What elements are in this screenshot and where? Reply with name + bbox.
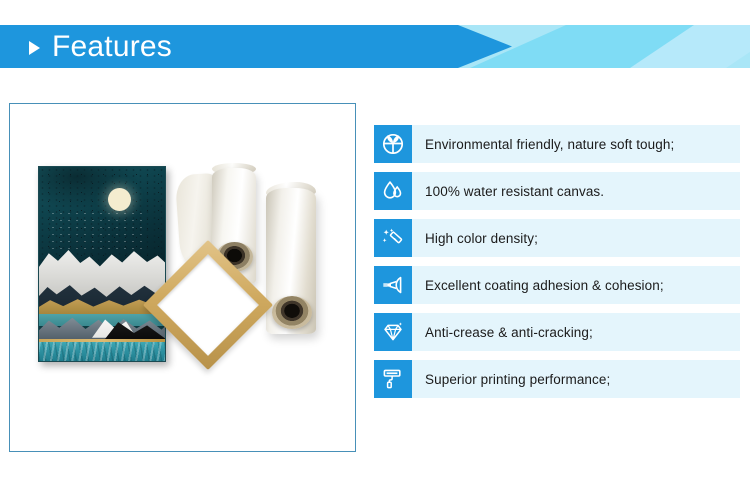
banner-label-group: Features xyxy=(29,25,172,68)
spray-nozzle-icon xyxy=(374,266,412,304)
feature-label: Environmental friendly, nature soft toug… xyxy=(412,125,740,163)
product-photo xyxy=(10,104,355,451)
feature-row: Excellent coating adhesion & cohesion; xyxy=(374,266,740,304)
feature-row: Superior printing performance; xyxy=(374,360,740,398)
canvas-painting xyxy=(38,166,166,362)
feature-row: Anti-crease & anti-cracking; xyxy=(374,313,740,351)
product-image-panel xyxy=(9,103,356,452)
feature-row: Environmental friendly, nature soft toug… xyxy=(374,125,740,163)
canvas-roll-right-core xyxy=(272,296,312,329)
feature-label: High color density; xyxy=(412,219,740,257)
feature-label: Excellent coating adhesion & cohesion; xyxy=(412,266,740,304)
painting-stars xyxy=(49,210,144,253)
feature-label: 100% water resistant canvas. xyxy=(412,172,740,210)
feature-row: 100% water resistant canvas. xyxy=(374,172,740,210)
eco-leaf-icon xyxy=(374,125,412,163)
paint-roller-icon xyxy=(374,360,412,398)
features-page: Features xyxy=(0,0,750,491)
features-list: Environmental friendly, nature soft toug… xyxy=(374,125,740,407)
features-banner: Features xyxy=(0,25,750,68)
water-drop-icon xyxy=(374,172,412,210)
feature-label: Superior printing performance; xyxy=(412,360,740,398)
magic-wand-icon xyxy=(374,219,412,257)
feature-label: Anti-crease & anti-cracking; xyxy=(412,313,740,351)
feature-row: High color density; xyxy=(374,219,740,257)
triangle-right-icon xyxy=(29,41,40,55)
painting-water-waves xyxy=(39,342,165,361)
page-title: Features xyxy=(52,25,172,68)
diamond-icon xyxy=(374,313,412,351)
